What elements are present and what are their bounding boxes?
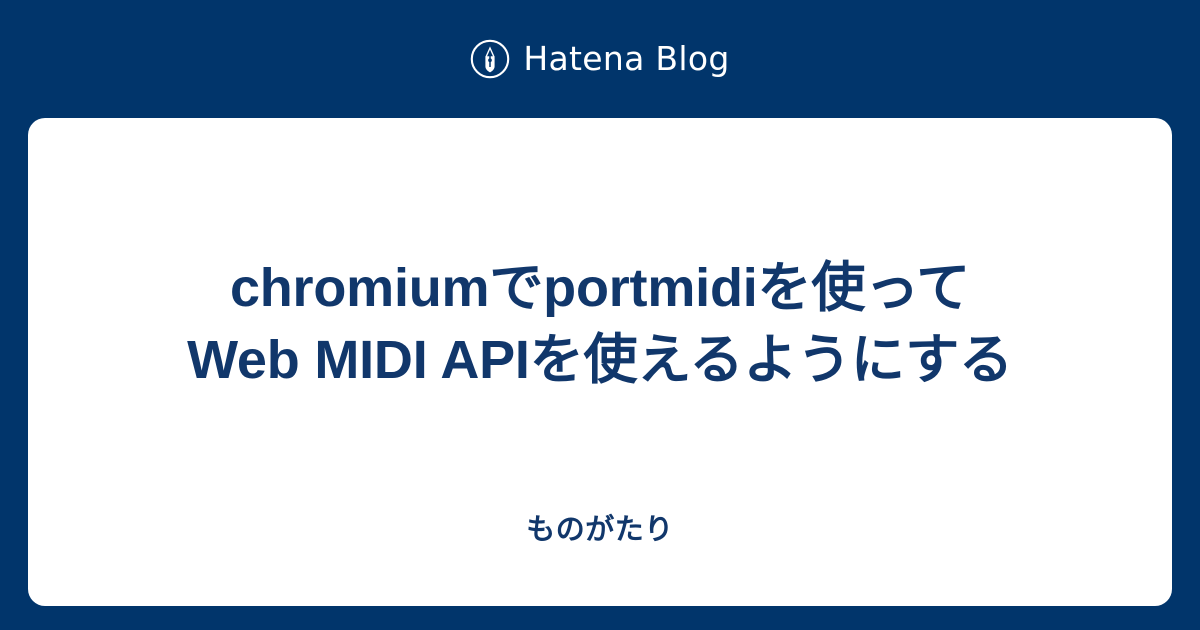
blog-name-label: ものがたり [28, 510, 1172, 550]
entry-title-line-2: Web MIDI APIを使えるようにする [68, 324, 1132, 396]
brand-header: Hatena Blog [0, 0, 1200, 118]
entry-title-line-1: chromiumでportmidiを使って [68, 252, 1132, 324]
fountain-pen-nib-in-circle-icon [470, 39, 510, 79]
brand-name-label: Hatena Blog [523, 39, 729, 79]
entry-card: chromiumでportmidiを使って Web MIDI APIを使えるよう… [28, 118, 1172, 606]
hatena-blog-og-card: Hatena Blog chromiumでportmidiを使って Web MI… [0, 0, 1200, 630]
entry-title: chromiumでportmidiを使って Web MIDI APIを使えるよう… [28, 252, 1172, 396]
